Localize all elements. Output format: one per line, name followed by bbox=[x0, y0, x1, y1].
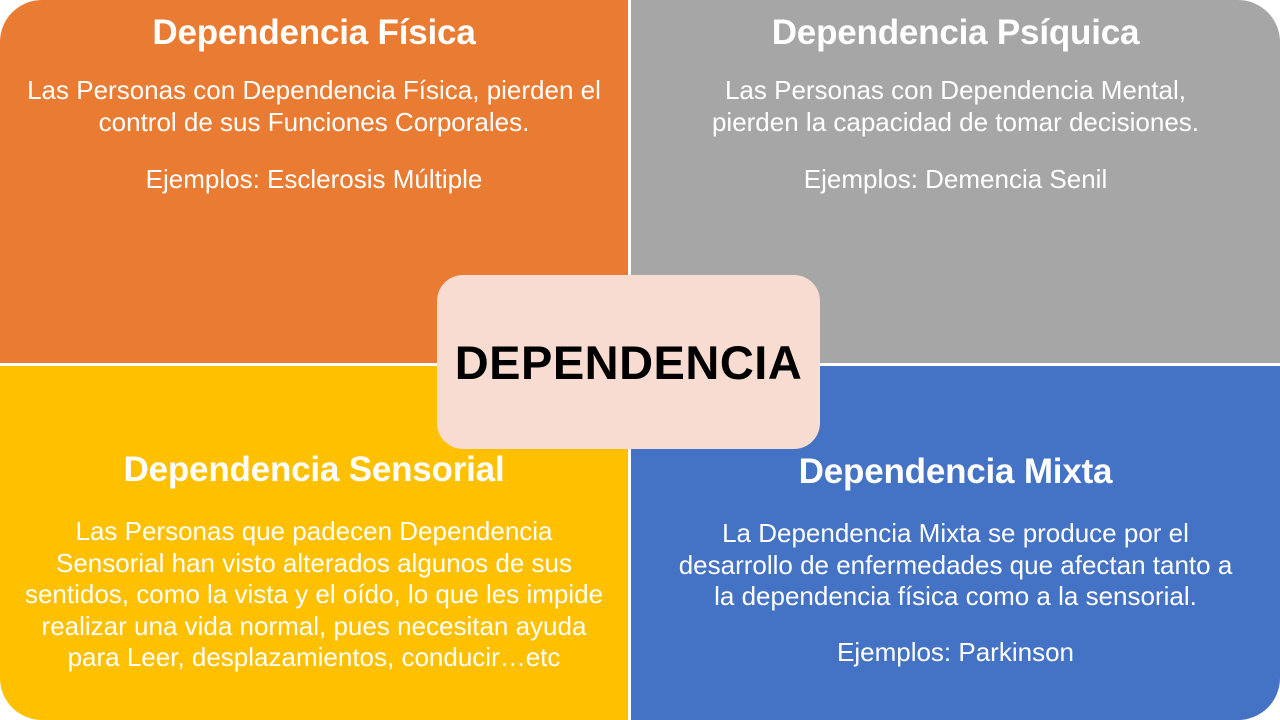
quadrant-example-fisica: Ejemplos: Esclerosis Múltiple bbox=[0, 164, 628, 195]
center-callout-label: DEPENDENCIA bbox=[455, 339, 803, 386]
quadrant-title-fisica: Dependencia Física bbox=[0, 12, 628, 53]
quadrant-title-psiquica: Dependencia Psíquica bbox=[631, 12, 1280, 53]
quadrant-title-sensorial: Dependencia Sensorial bbox=[0, 449, 628, 490]
quadrant-example-mixta: Ejemplos: Parkinson bbox=[631, 637, 1280, 668]
quadrant-example-psiquica: Ejemplos: Demencia Senil bbox=[631, 164, 1280, 195]
quadrant-body-sensorial: Las Personas que padecen Dependencia Sen… bbox=[0, 516, 628, 673]
quadrant-body-fisica: Las Personas con Dependencia Física, pie… bbox=[0, 75, 628, 138]
quadrant-body-psiquica: Las Personas con Dependencia Mental, pie… bbox=[631, 75, 1280, 138]
quadrant-body-mixta: La Dependencia Mixta se produce por el d… bbox=[631, 518, 1280, 612]
quadrant-content-mixta: Dependencia Mixta La Dependencia Mixta s… bbox=[631, 451, 1280, 668]
quadrant-title-mixta: Dependencia Mixta bbox=[631, 451, 1280, 492]
quadrant-content-fisica: Dependencia Física Las Personas con Depe… bbox=[0, 12, 628, 196]
infographic-canvas: Dependencia Física Las Personas con Depe… bbox=[0, 0, 1280, 720]
center-callout-box[interactable]: DEPENDENCIA bbox=[437, 275, 820, 449]
quadrant-content-sensorial: Dependencia Sensorial Las Personas que p… bbox=[0, 449, 628, 674]
quadrant-content-psiquica: Dependencia Psíquica Las Personas con De… bbox=[631, 12, 1280, 196]
